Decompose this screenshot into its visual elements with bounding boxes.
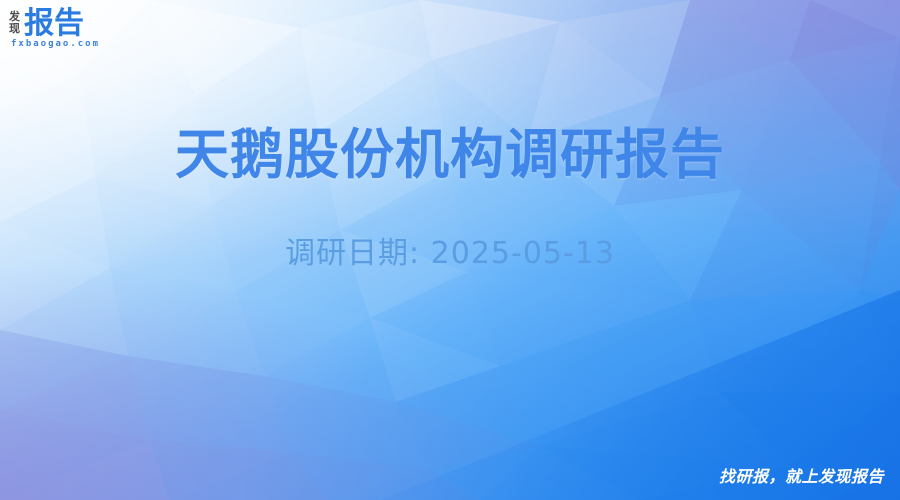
page-title: 天鹅股份机构调研报告	[0, 124, 900, 186]
fxbaogao-logo-icon: 发 现 报告	[9, 9, 84, 39]
logo-wordmark: 报告	[24, 9, 84, 39]
brand-logo[interactable]: 发 现 报告 fxbaogao.com	[0, 0, 170, 62]
logo-stack-bottom: 现	[9, 23, 20, 35]
logo-stack: 发 现	[9, 9, 20, 35]
survey-date-subtitle: 调研日期: 2025-05-13	[0, 234, 900, 274]
logo-domain: fxbaogao.com	[11, 39, 100, 49]
report-cover: 发 现 报告 fxbaogao.com 天鹅股份机构调研报告 调研日期: 202…	[0, 0, 900, 500]
footer-tagline: 找研报，就上发现报告	[719, 467, 884, 487]
